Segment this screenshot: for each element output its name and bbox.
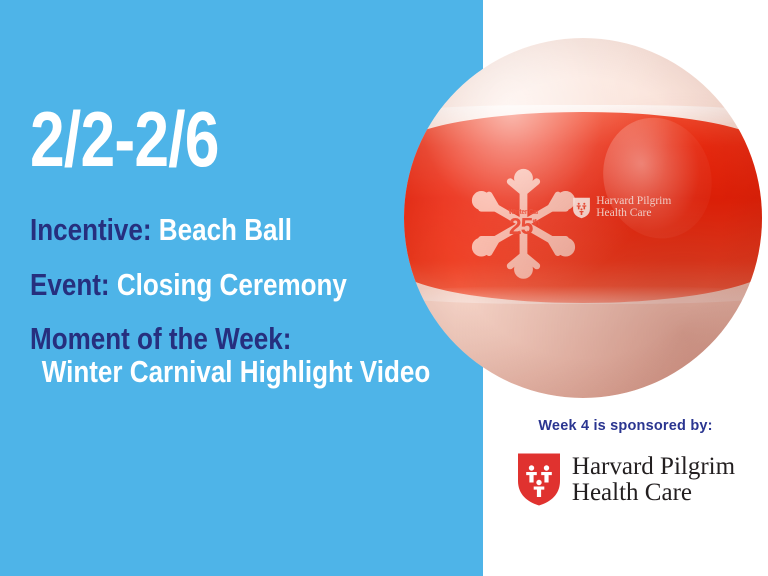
date-range-headline: 2/2-2/6	[30, 104, 390, 176]
promo-text-column: 2/2-2/6 Incentive: Beach Ball Event: Clo…	[30, 104, 480, 389]
snowflake-anniversary-text: Winter Car 25th	[468, 168, 579, 280]
shield-icon	[516, 452, 562, 507]
sponsor-logo-line2: Health Care	[572, 480, 735, 506]
sponsor-logo-text: Harvard Pilgrim Health Care	[572, 454, 735, 506]
moment-value: Winter Carnival Highlight Video	[30, 356, 408, 389]
sponsor-logo: Harvard Pilgrim Health Care	[483, 452, 768, 507]
detail-line-moment: Moment of the Week: Winter Carnival High…	[30, 323, 408, 389]
ball-imprint-logo-text: Harvard Pilgrim Health Care	[596, 196, 671, 219]
sponsor-block: Week 4 is sponsored by: Harvard Pilgrim …	[483, 418, 768, 507]
ball-imprint-line2: Health Care	[596, 208, 671, 220]
snowflake-icon: Winter Car 25th	[468, 168, 579, 280]
event-value: Closing Ceremony	[117, 267, 347, 302]
promo-graphic: Winter Car 25th Harvard	[0, 0, 768, 576]
moment-label: Moment of the Week:	[30, 321, 291, 356]
sponsor-logo-line1: Harvard Pilgrim	[572, 454, 735, 480]
event-label: Event:	[30, 267, 110, 302]
ball-imprint-logo: Harvard Pilgrim Health Care	[572, 196, 671, 219]
sponsor-kicker-text: Week 4 is sponsored by:	[483, 418, 768, 434]
incentive-value: Beach Ball	[159, 212, 292, 247]
snowflake-top-text: Winter Car	[509, 209, 539, 216]
detail-line-incentive: Incentive: Beach Ball	[30, 214, 408, 247]
detail-line-event: Event: Closing Ceremony	[30, 269, 408, 302]
shield-icon	[572, 197, 591, 219]
snowflake-number: 25th	[509, 215, 539, 238]
incentive-label: Incentive:	[30, 212, 152, 247]
